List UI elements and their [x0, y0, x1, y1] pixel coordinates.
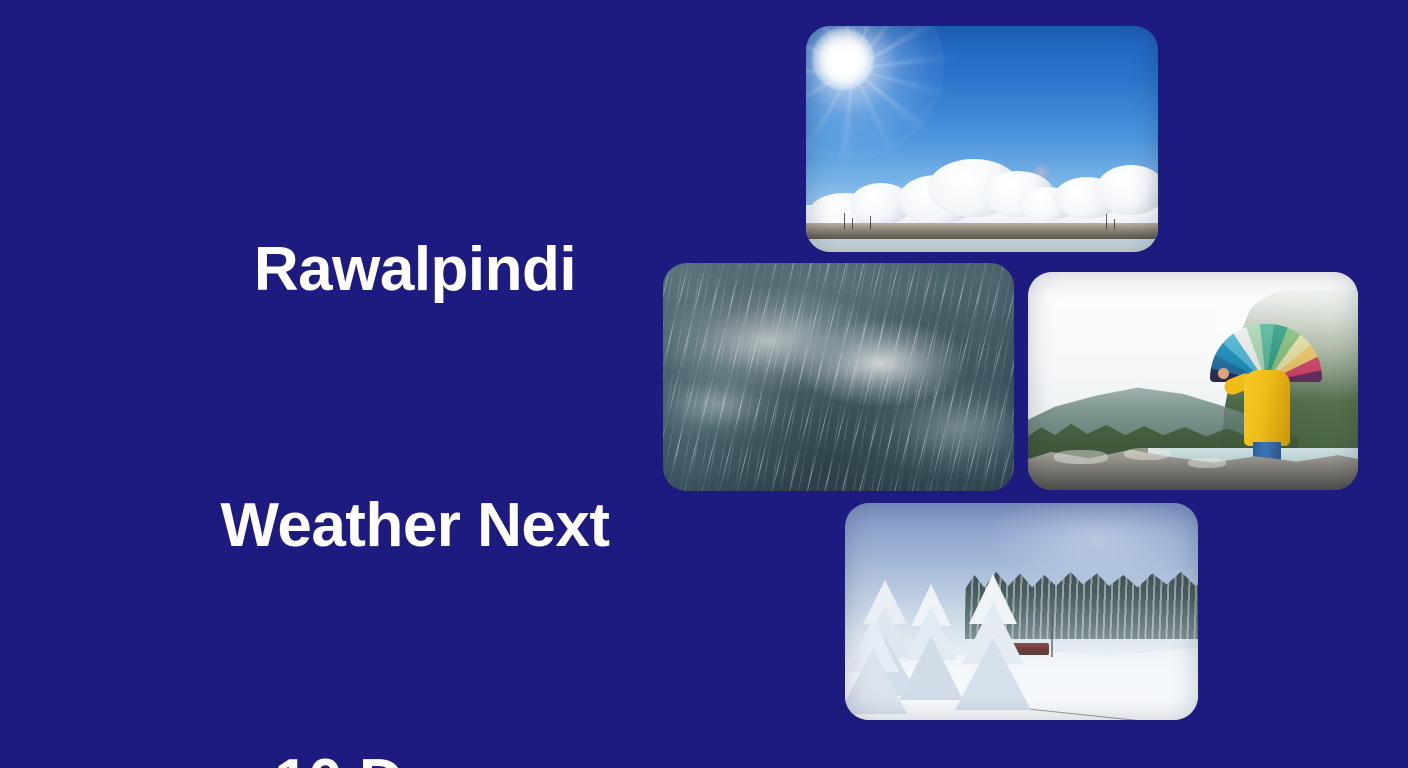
- page-title: Rawalpindi Weather Next 10 Days – (Novem…: [120, 78, 710, 768]
- title-line-3: 10 Days –: [274, 747, 556, 768]
- title-line-1: Rawalpindi: [254, 235, 576, 304]
- weather-image-sunny-sky: [806, 26, 1158, 252]
- sun-icon: [812, 28, 874, 90]
- utility-post: [1051, 615, 1053, 657]
- title-line-2: Weather Next: [220, 491, 609, 560]
- weather-image-rainbow-umbrella: [1028, 272, 1358, 490]
- rain-streaks-fine: [663, 263, 1014, 491]
- snow-pine: [845, 618, 907, 714]
- weather-image-snowy-forest: [845, 503, 1198, 720]
- weather-banner-canvas: Rawalpindi Weather Next 10 Days – (Novem…: [0, 0, 1408, 768]
- sky-glow: [986, 503, 1198, 583]
- snow-pine: [899, 584, 963, 700]
- cumulus-cloudbank: [806, 153, 1158, 239]
- yellow-raincoat: [1244, 370, 1290, 446]
- snow-pine: [955, 574, 1031, 710]
- hand: [1218, 368, 1229, 379]
- weather-image-heavy-rain-storm: [663, 263, 1014, 491]
